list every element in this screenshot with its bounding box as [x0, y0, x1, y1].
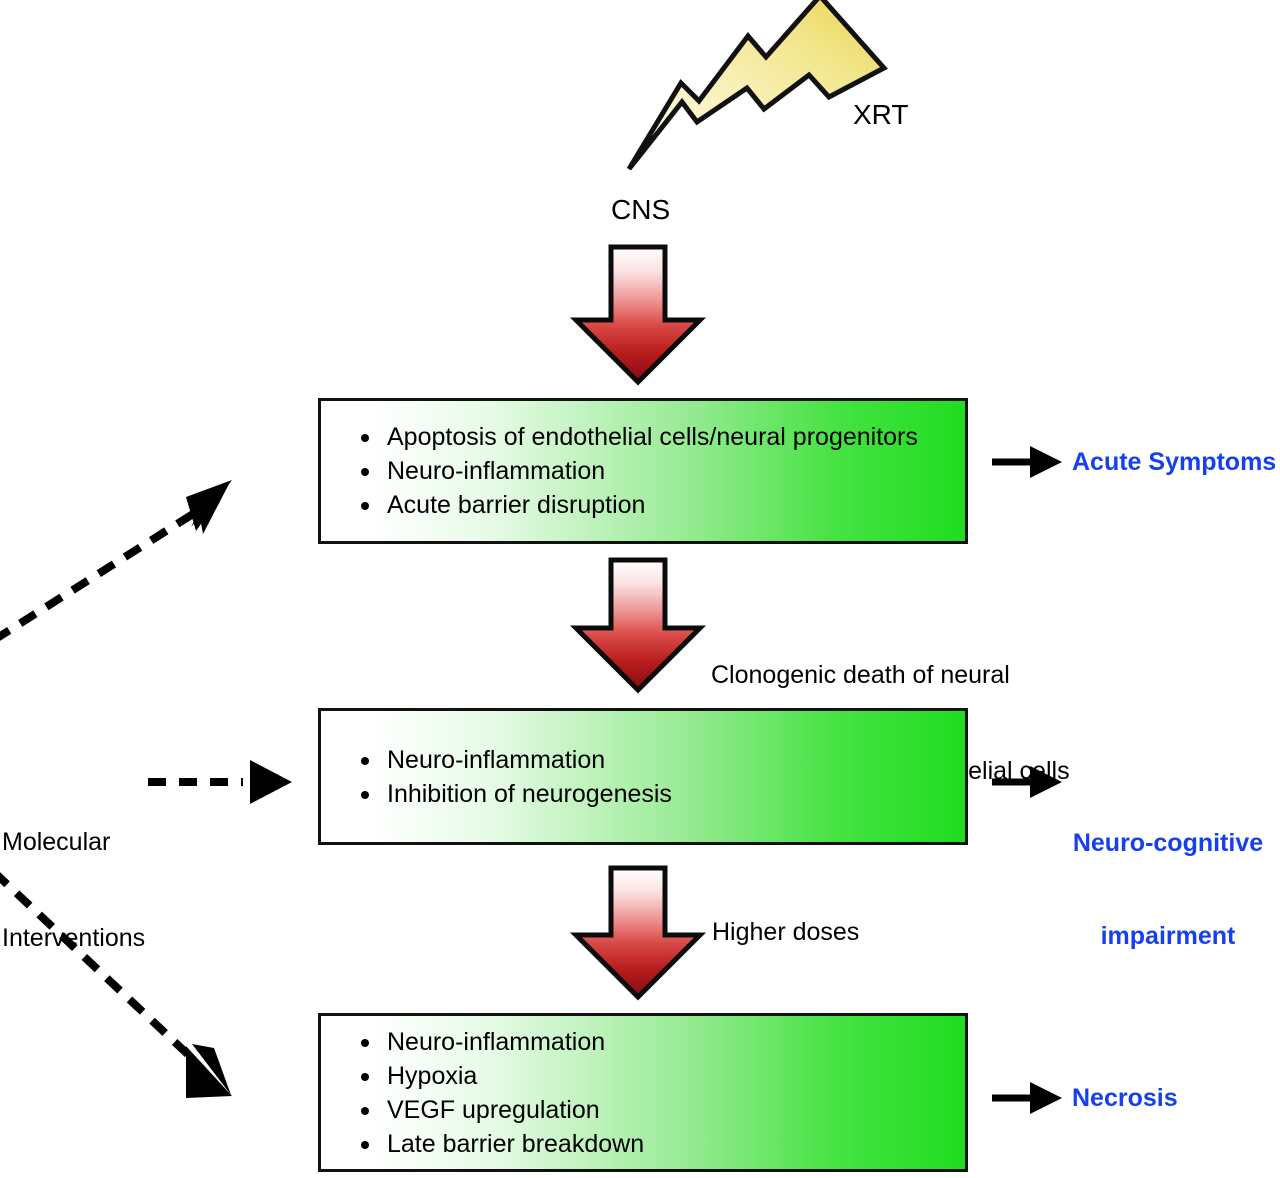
outcome-label-early-delayed: Neuro-cognitive impairment: [1060, 766, 1276, 1014]
red-arrow-acute-to-early: [576, 560, 700, 690]
outcome-arrow-late: [992, 1082, 1062, 1114]
outcome-label-early-delayed-line2: impairment: [1060, 921, 1276, 952]
diagram-canvas: XRT CNS Molecular Interventions Clonogen…: [0, 0, 1280, 1178]
stage-bullet-list-late-delayed: Neuro-inflammation Hypoxia VEGF upregula…: [321, 1025, 965, 1161]
lightning-bolt-icon: [300, 0, 887, 169]
stage-bullet-list-acute: Apoptosis of endothelial cells/neural pr…: [321, 420, 965, 522]
red-arrow-xrt-to-acute: [576, 247, 700, 382]
stage-box-acute: Apoptosis of endothelial cells/neural pr…: [318, 398, 968, 544]
list-item: Neuro-inflammation: [359, 1025, 965, 1059]
stage-box-late-delayed: Neuro-inflammation Hypoxia VEGF upregula…: [318, 1013, 968, 1172]
outcome-label-late-delayed: Necrosis: [1072, 1083, 1178, 1114]
red-arrow-early-to-late: [576, 868, 700, 997]
cns-label: CNS: [611, 194, 670, 226]
dashed-arrow-to-acute: [0, 480, 232, 640]
stage-box-early-delayed: Neuro-inflammation Inhibition of neuroge…: [318, 708, 968, 845]
transition-caption-clonogenic-line1: Clonogenic death of neural: [711, 659, 1070, 691]
list-item: Acute barrier disruption: [359, 488, 965, 522]
list-item: Neuro-inflammation: [359, 454, 965, 488]
outcome-label-acute: Acute Symptoms: [1072, 447, 1276, 478]
molecular-interventions-label: Molecular Interventions: [2, 762, 145, 1018]
list-item: VEGF upregulation: [359, 1093, 965, 1127]
stage-bullet-list-early-delayed: Neuro-inflammation Inhibition of neuroge…: [321, 743, 965, 811]
xrt-label: XRT: [853, 99, 909, 131]
dashed-arrow-to-early: [148, 760, 292, 804]
molecular-interventions-line2: Interventions: [2, 922, 145, 954]
molecular-interventions-line1: Molecular: [2, 826, 145, 858]
outcome-arrow-acute: [992, 446, 1062, 478]
list-item: Hypoxia: [359, 1059, 965, 1093]
list-item: Apoptosis of endothelial cells/neural pr…: [359, 420, 965, 454]
list-item: Inhibition of neurogenesis: [359, 777, 965, 811]
transition-caption-higher-doses: Higher doses: [712, 916, 859, 948]
list-item: Late barrier breakdown: [359, 1127, 965, 1161]
outcome-label-early-delayed-line1: Neuro-cognitive: [1060, 828, 1276, 859]
list-item: Neuro-inflammation: [359, 743, 965, 777]
